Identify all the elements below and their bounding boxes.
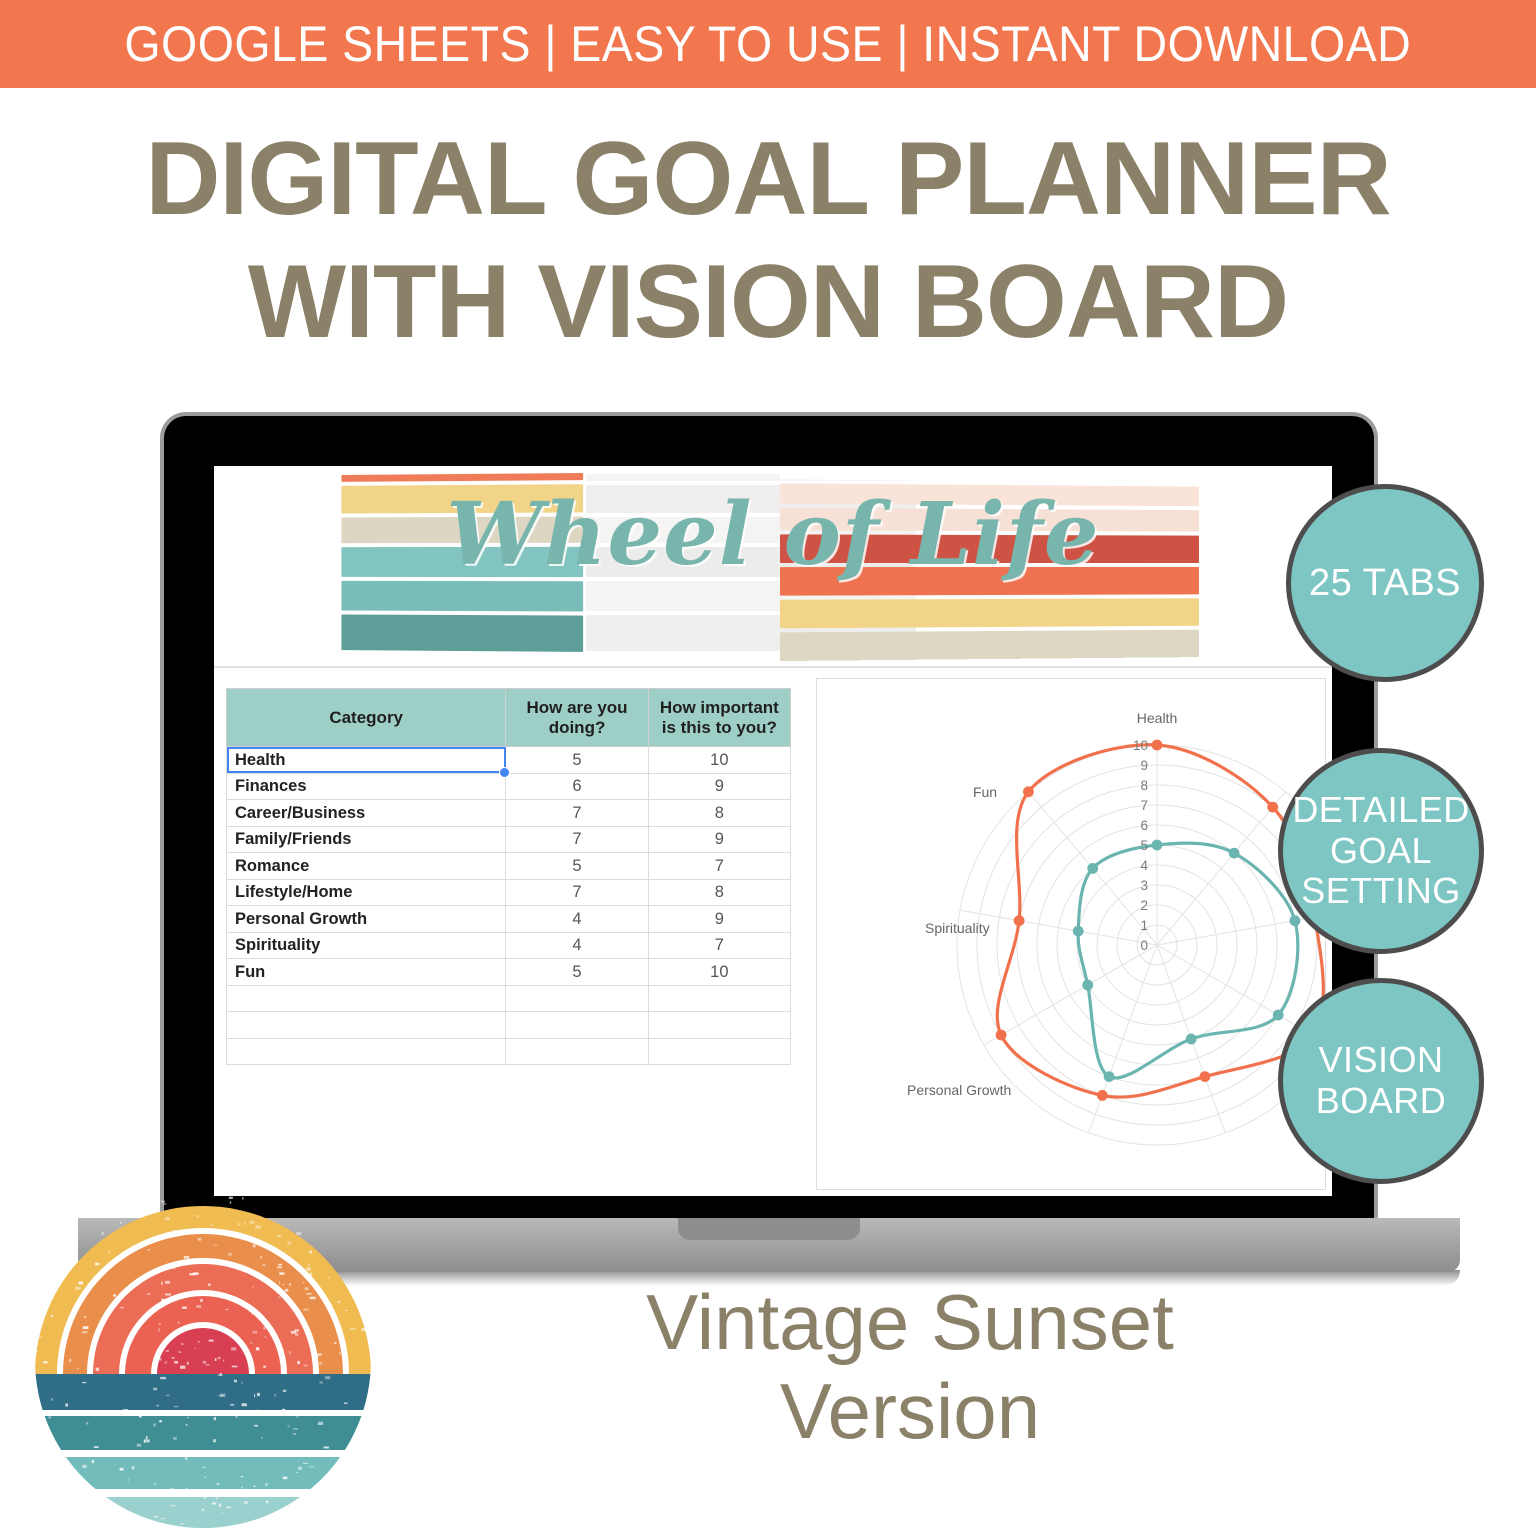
- sunset-texture-fleck: [171, 1505, 175, 1506]
- sunset-texture-fleck: [43, 1361, 47, 1363]
- sunset-texture-fleck: [298, 1467, 302, 1470]
- sunset-texture-fleck: [226, 1309, 229, 1310]
- sunset-texture-fleck: [39, 1336, 41, 1337]
- radar-data-point: [1073, 926, 1084, 937]
- sunset-texture-fleck: [251, 1413, 256, 1416]
- sunset-texture-fleck: [318, 1422, 323, 1425]
- cell-important[interactable]: 8: [648, 879, 790, 906]
- sunset-texture-fleck: [313, 1354, 319, 1356]
- retro-stripe: [780, 472, 1199, 483]
- column-header-important[interactable]: How important is this to you?: [648, 689, 790, 747]
- radar-tick-label: 3: [1140, 878, 1148, 893]
- sunset-texture-fleck: [161, 1201, 165, 1203]
- sunset-texture-fleck: [120, 1222, 122, 1224]
- sunset-texture-fleck: [215, 1358, 217, 1361]
- radar-data-point: [1082, 980, 1093, 991]
- cell-category[interactable]: Romance: [227, 853, 506, 880]
- sunset-texture-fleck: [82, 1465, 87, 1468]
- cell-doing[interactable]: 4: [506, 932, 648, 959]
- sunset-texture-fleck: [279, 1272, 284, 1274]
- sunset-texture-fleck: [296, 1472, 299, 1473]
- badge-vision-board[interactable]: VISION BOARD: [1278, 978, 1484, 1184]
- sunset-texture-fleck: [289, 1283, 291, 1285]
- retro-stripe: [780, 598, 1199, 628]
- sunset-texture-fleck: [339, 1352, 341, 1355]
- sunset-texture-fleck: [217, 1231, 219, 1233]
- sunset-texture-fleck: [260, 1256, 262, 1259]
- sunset-texture-fleck: [219, 1504, 222, 1507]
- sunset-texture-fleck: [169, 1236, 170, 1238]
- sunset-texture-fleck: [305, 1287, 309, 1290]
- sunset-texture-fleck: [214, 1245, 218, 1246]
- sunset-texture-fleck: [238, 1223, 240, 1225]
- sunset-texture-fleck: [266, 1501, 269, 1504]
- radar-data-point: [1087, 863, 1098, 874]
- table-row[interactable]: Lifestyle/Home78: [227, 879, 791, 906]
- sunset-texture-fleck: [174, 1361, 178, 1364]
- sunset-texture-fleck: [184, 1256, 189, 1259]
- cell-important[interactable]: 7: [648, 932, 790, 959]
- table-row[interactable]: Personal Growth49: [227, 906, 791, 933]
- sunset-disc: [29, 1197, 377, 1536]
- sunset-texture-fleck: [232, 1366, 238, 1368]
- sunset-texture-fleck: [328, 1277, 329, 1279]
- wheel-of-life-table[interactable]: Category How are you doing? How importan…: [226, 688, 791, 1065]
- sunset-texture-fleck: [279, 1281, 280, 1284]
- radar-tick-label: 6: [1140, 818, 1148, 833]
- cell-doing[interactable]: 7: [506, 800, 648, 827]
- sunset-texture-fleck: [209, 1340, 214, 1342]
- radar-data-point: [1267, 802, 1278, 813]
- sunset-texture-fleck: [84, 1316, 86, 1318]
- table-row[interactable]: Romance57: [227, 853, 791, 880]
- radar-data-point: [1229, 848, 1240, 859]
- sunset-texture-fleck: [172, 1357, 175, 1358]
- sunset-texture-fleck: [155, 1483, 156, 1486]
- sunset-texture-fleck: [204, 1495, 206, 1498]
- cell-doing[interactable]: 5: [506, 853, 648, 880]
- cell-important[interactable]: 9: [648, 773, 790, 800]
- column-header-category[interactable]: Category: [227, 689, 506, 747]
- cell-doing[interactable]: [506, 985, 648, 1012]
- sunset-texture-fleck: [309, 1466, 315, 1468]
- cell-category[interactable]: [227, 985, 506, 1012]
- sunset-texture-fleck: [253, 1331, 258, 1334]
- table-row[interactable]: Fun510: [227, 959, 791, 986]
- sunset-texture-fleck: [206, 1364, 210, 1365]
- sunset-texture-fleck: [253, 1486, 255, 1487]
- sunset-texture-fleck: [212, 1503, 216, 1505]
- sunset-texture-fleck: [166, 1350, 169, 1351]
- sunset-texture-fleck: [272, 1453, 276, 1455]
- sunset-texture-fleck: [310, 1297, 316, 1300]
- sunset-texture-fleck: [345, 1310, 348, 1311]
- sunset-texture-fleck: [241, 1476, 244, 1477]
- sunset-texture-fleck: [203, 1361, 206, 1364]
- promo-banner-text: GOOGLE SHEETS | EASY TO USE | INSTANT DO…: [125, 15, 1412, 73]
- page-title-line-2: WITH VISION BOARD: [0, 241, 1536, 364]
- sunset-texture-fleck: [166, 1395, 170, 1397]
- sunset-water-band: [29, 1416, 377, 1450]
- sunset-texture-fleck: [219, 1395, 224, 1396]
- radar-data-point: [1097, 1090, 1108, 1101]
- sunset-texture-fleck: [337, 1301, 340, 1303]
- sunset-texture-fleck: [203, 1467, 207, 1469]
- sunset-texture-fleck: [95, 1263, 99, 1265]
- sunset-texture-fleck: [263, 1327, 265, 1329]
- sunset-texture-fleck: [189, 1273, 195, 1275]
- sunset-texture-fleck: [253, 1286, 254, 1288]
- sunset-water-band: [29, 1457, 377, 1489]
- radar-data-point: [1200, 1071, 1211, 1082]
- wheel-of-life-radar-chart[interactable]: 012345678910HealthFunSpiritualityPersona…: [816, 678, 1326, 1190]
- cell-category[interactable]: [227, 1012, 506, 1039]
- cell-important[interactable]: 9: [648, 906, 790, 933]
- sunset-texture-fleck: [86, 1289, 90, 1290]
- sunset-texture-fleck: [218, 1357, 221, 1359]
- sunset-texture-fleck: [263, 1264, 266, 1266]
- sunset-texture-fleck: [165, 1281, 170, 1284]
- sunset-water-band: [29, 1497, 377, 1536]
- sunset-texture-fleck: [173, 1437, 177, 1439]
- sunset-texture-fleck: [65, 1403, 68, 1406]
- sunset-texture-fleck: [263, 1366, 266, 1368]
- sunset-texture-fleck: [137, 1444, 141, 1447]
- sunset-texture-fleck: [208, 1283, 211, 1286]
- cell-important[interactable]: 7: [648, 853, 790, 880]
- sunset-texture-fleck: [205, 1477, 206, 1478]
- sunset-texture-fleck: [86, 1422, 88, 1424]
- sunset-texture-fleck: [195, 1348, 196, 1349]
- table-row[interactable]: Spirituality47: [227, 932, 791, 959]
- sunset-texture-fleck: [159, 1328, 160, 1331]
- sunset-texture-fleck: [198, 1238, 202, 1241]
- sunset-texture-fleck: [244, 1222, 245, 1225]
- cell-doing[interactable]: 6: [506, 773, 648, 800]
- sunset-texture-fleck: [214, 1417, 216, 1420]
- sunset-texture-fleck: [153, 1388, 157, 1391]
- sunset-texture-fleck: [36, 1350, 37, 1352]
- sunset-texture-fleck: [159, 1323, 161, 1325]
- banner-divider: [214, 666, 1332, 668]
- sunset-texture-fleck: [230, 1201, 231, 1204]
- sunset-texture-fleck: [185, 1457, 187, 1460]
- retro-stripe: [341, 581, 583, 612]
- radar-axis-label: Spirituality: [925, 920, 990, 936]
- cell-important[interactable]: 8: [648, 800, 790, 827]
- sunset-texture-fleck: [220, 1373, 222, 1376]
- sunset-texture-fleck: [254, 1425, 258, 1427]
- retro-stripe: [341, 614, 583, 651]
- sunset-texture-fleck: [337, 1414, 340, 1416]
- sunset-texture-fleck: [102, 1232, 103, 1235]
- sunset-texture-fleck: [90, 1369, 91, 1372]
- sunset-texture-fleck: [230, 1404, 234, 1406]
- sunset-texture-fleck: [217, 1484, 220, 1485]
- cell-important[interactable]: 9: [648, 826, 790, 853]
- cell-important[interactable]: [648, 985, 790, 1012]
- sunset-water-band: [29, 1491, 377, 1497]
- sunset-texture-fleck: [92, 1460, 94, 1463]
- radar-grid-ring: [977, 765, 1326, 1125]
- sunset-texture-fleck: [265, 1483, 268, 1486]
- sunset-texture-fleck: [196, 1215, 198, 1216]
- sunset-texture-fleck: [255, 1225, 261, 1228]
- table-row[interactable]: Career/Business78: [227, 800, 791, 827]
- sunset-texture-fleck: [82, 1331, 87, 1333]
- sunset-texture-fleck: [295, 1333, 298, 1335]
- radar-data-point: [996, 1030, 1007, 1041]
- sunset-texture-fleck: [350, 1328, 356, 1330]
- sunset-texture-fleck: [79, 1282, 84, 1285]
- sunset-texture-fleck: [156, 1405, 159, 1407]
- sunset-texture-fleck: [253, 1244, 256, 1247]
- sunset-texture-fleck: [278, 1296, 280, 1298]
- sunset-texture-fleck: [223, 1360, 224, 1362]
- cell-category[interactable]: Spirituality: [227, 932, 506, 959]
- retro-stripe: [780, 630, 1199, 661]
- sunset-texture-fleck: [94, 1446, 99, 1448]
- sunset-texture-fleck: [178, 1322, 179, 1324]
- sunset-texture-fleck: [186, 1424, 188, 1426]
- sunset-texture-fleck: [148, 1249, 150, 1251]
- sunset-texture-fleck: [165, 1217, 170, 1220]
- sunset-texture-fleck: [120, 1307, 124, 1308]
- sunset-texture-fleck: [155, 1305, 161, 1307]
- sunset-texture-fleck: [306, 1268, 311, 1271]
- sunset-texture-fleck: [324, 1447, 330, 1449]
- cell-category[interactable]: Finances: [227, 773, 506, 800]
- sunset-texture-fleck: [82, 1454, 84, 1456]
- sunset-texture-fleck: [163, 1203, 166, 1204]
- radar-data-point: [1152, 740, 1163, 751]
- cell-doing[interactable]: 7: [506, 826, 648, 853]
- sunset-texture-fleck: [226, 1507, 231, 1509]
- sunset-texture-fleck: [69, 1359, 71, 1362]
- sunset-texture-fleck: [178, 1351, 181, 1353]
- sunset-texture-fleck: [82, 1382, 86, 1383]
- sunset-texture-fleck: [250, 1221, 255, 1224]
- sunset-texture-fleck: [77, 1368, 79, 1370]
- sunset-texture-fleck: [160, 1377, 166, 1379]
- badge-detailed-goal-setting[interactable]: DETAILED GOAL SETTING: [1278, 748, 1484, 954]
- sunset-texture-fleck: [293, 1434, 296, 1435]
- sunset-texture-fleck: [161, 1282, 163, 1285]
- radar-spoke: [1157, 792, 1286, 945]
- cell-category[interactable]: Lifestyle/Home: [227, 879, 506, 906]
- badge-vision-board-label: VISION BOARD: [1291, 1040, 1471, 1121]
- sunset-texture-fleck: [274, 1394, 276, 1396]
- sunset-texture-fleck: [297, 1415, 298, 1417]
- sunset-texture-fleck: [165, 1294, 171, 1296]
- radar-tick-label: 1: [1140, 918, 1148, 933]
- sunset-texture-fleck: [278, 1264, 282, 1266]
- cell-important[interactable]: [648, 1038, 790, 1065]
- cell-category[interactable]: Family/Friends: [227, 826, 506, 853]
- sunset-texture-fleck: [309, 1264, 310, 1266]
- sunset-texture-fleck: [128, 1478, 129, 1481]
- retro-stripe: [341, 473, 583, 482]
- cell-important[interactable]: [648, 1012, 790, 1039]
- sunset-texture-fleck: [310, 1273, 313, 1276]
- sunset-texture-fleck: [261, 1437, 263, 1439]
- sunset-texture-fleck: [124, 1349, 126, 1352]
- sunset-texture-fleck: [283, 1390, 287, 1392]
- sunset-texture-fleck: [303, 1309, 308, 1311]
- cell-doing[interactable]: 7: [506, 879, 648, 906]
- radar-chart-svg: 012345678910HealthFunSpiritualityPersona…: [817, 679, 1326, 1190]
- sunset-texture-fleck: [174, 1406, 178, 1407]
- sunset-texture-fleck: [216, 1497, 218, 1499]
- sunset-texture-fleck: [200, 1299, 202, 1302]
- table-row[interactable]: Finances69: [227, 773, 791, 800]
- sunset-texture-fleck: [75, 1287, 81, 1290]
- radar-tick-label: 7: [1140, 798, 1148, 813]
- radar-data-point: [1290, 915, 1301, 926]
- radar-tick-label: 9: [1140, 758, 1148, 773]
- sunset-texture-fleck: [250, 1342, 253, 1343]
- radar-data-point: [1023, 786, 1034, 797]
- sunset-texture-fleck: [254, 1394, 255, 1397]
- cell-category[interactable]: Career/Business: [227, 800, 506, 827]
- sunset-texture-fleck: [131, 1215, 133, 1218]
- radar-axis-label: Personal Growth: [907, 1082, 1011, 1098]
- cell-category[interactable]: [227, 1038, 506, 1065]
- radar-data-point: [1186, 1034, 1197, 1045]
- sunset-texture-fleck: [108, 1250, 110, 1253]
- cell-important[interactable]: 10: [648, 959, 790, 986]
- laptop-lid: Wheel of Life Category How are you doing…: [160, 412, 1378, 1220]
- sunset-texture-fleck: [96, 1368, 99, 1371]
- sunset-texture-fleck: [132, 1466, 135, 1469]
- retro-sunset-logo: [18, 1174, 388, 1536]
- sunset-water-band: [29, 1374, 377, 1410]
- table-row[interactable]: [227, 985, 791, 1012]
- wheel-of-life-banner: Wheel of Life: [214, 466, 1332, 666]
- laptop-base-notch: [678, 1218, 860, 1240]
- sunset-texture-fleck: [287, 1241, 291, 1244]
- table-row[interactable]: Health510: [227, 747, 791, 774]
- sunset-texture-fleck: [154, 1516, 158, 1517]
- sunset-texture-fleck: [257, 1410, 260, 1411]
- sunset-texture-fleck: [147, 1293, 150, 1294]
- sunset-texture-fleck: [257, 1393, 260, 1396]
- sunset-texture-fleck: [161, 1299, 166, 1302]
- sunset-texture-fleck: [320, 1381, 323, 1383]
- sunset-texture-fleck: [202, 1509, 204, 1512]
- sunset-texture-fleck: [90, 1452, 95, 1454]
- badge-25-tabs-label: 25 TABS: [1309, 562, 1461, 605]
- promo-banner: GOOGLE SHEETS | EASY TO USE | INSTANT DO…: [0, 0, 1536, 88]
- table-header-row: Category How are you doing? How importan…: [227, 689, 791, 747]
- sunset-texture-fleck: [146, 1436, 148, 1439]
- cell-doing[interactable]: 5: [506, 747, 648, 774]
- sunset-texture-fleck: [197, 1492, 199, 1493]
- badge-detailed-goal-setting-label: DETAILED GOAL SETTING: [1291, 790, 1471, 912]
- sunset-texture-fleck: [294, 1329, 299, 1331]
- wheel-of-life-title: Wheel of Life: [214, 484, 1332, 585]
- sunset-texture-fleck: [283, 1284, 284, 1285]
- sunset-texture-fleck: [220, 1492, 225, 1495]
- sunset-texture-fleck: [242, 1197, 244, 1199]
- cell-important[interactable]: 10: [648, 747, 790, 774]
- version-caption-line-2: Version: [400, 1367, 1420, 1456]
- radar-data-point: [1152, 840, 1163, 851]
- sunset-texture-fleck: [187, 1417, 189, 1418]
- cell-doing[interactable]: 4: [506, 906, 648, 933]
- radar-axis-label: Health: [1137, 710, 1177, 726]
- sunset-texture-fleck: [256, 1347, 259, 1350]
- sunset-texture-fleck: [180, 1343, 184, 1344]
- radar-tick-label: 2: [1140, 898, 1148, 913]
- sunset-texture-fleck: [304, 1364, 308, 1366]
- page-title: DIGITAL GOAL PLANNER WITH VISION BOARD: [0, 118, 1536, 363]
- cell-category[interactable]: Health: [227, 747, 506, 774]
- sunset-texture-fleck: [277, 1266, 282, 1268]
- table-row[interactable]: Family/Friends79: [227, 826, 791, 853]
- sunset-texture-fleck: [303, 1282, 304, 1283]
- sunset-texture-fleck: [83, 1326, 89, 1329]
- sunset-texture-fleck: [173, 1230, 175, 1233]
- sunset-texture-fleck: [283, 1477, 288, 1480]
- sunset-texture-fleck: [241, 1487, 243, 1489]
- sunset-texture-fleck: [228, 1253, 233, 1256]
- sunset-texture-fleck: [285, 1289, 289, 1292]
- radar-tick-label: 5: [1140, 838, 1148, 853]
- cell-category[interactable]: Fun: [227, 959, 506, 986]
- column-header-doing[interactable]: How are you doing?: [506, 689, 648, 747]
- radar-tick-label: 8: [1140, 778, 1148, 793]
- version-caption: Vintage Sunset Version: [400, 1278, 1420, 1456]
- cell-doing[interactable]: [506, 1012, 648, 1039]
- sunset-texture-fleck: [159, 1420, 162, 1422]
- sunset-texture-fleck: [170, 1488, 174, 1490]
- radar-tick-label: 4: [1140, 858, 1148, 873]
- radar-data-point: [1014, 915, 1025, 926]
- radar-tick-label: 0: [1140, 938, 1148, 953]
- sunset-texture-fleck: [211, 1225, 213, 1227]
- sunset-texture-fleck: [236, 1412, 241, 1415]
- sunset-texture-fleck: [52, 1398, 54, 1400]
- sunset-texture-fleck: [182, 1307, 187, 1309]
- sunset-texture-fleck: [288, 1425, 290, 1427]
- sunset-texture-fleck: [344, 1402, 348, 1404]
- table-row[interactable]: [227, 1038, 791, 1065]
- sunset-texture-fleck: [325, 1376, 330, 1379]
- sunset-texture-fleck: [229, 1197, 233, 1199]
- cell-doing[interactable]: [506, 1038, 648, 1065]
- sunset-texture-fleck: [334, 1342, 336, 1344]
- sunset-texture-fleck: [289, 1351, 290, 1354]
- sunset-texture-fleck: [180, 1523, 183, 1524]
- sunset-texture-fleck: [297, 1361, 300, 1364]
- sunset-texture-fleck: [156, 1358, 161, 1360]
- radar-data-point: [1273, 1010, 1284, 1021]
- badge-25-tabs[interactable]: 25 TABS: [1286, 484, 1484, 682]
- cell-doing[interactable]: 5: [506, 959, 648, 986]
- table-row[interactable]: [227, 1012, 791, 1039]
- sunset-texture-fleck: [241, 1382, 243, 1384]
- sunset-texture-fleck: [234, 1380, 237, 1383]
- cell-category[interactable]: Personal Growth: [227, 906, 506, 933]
- sunset-texture-fleck: [319, 1362, 322, 1364]
- sunset-texture-fleck: [180, 1366, 185, 1369]
- sunset-texture-fleck: [251, 1311, 252, 1314]
- sunset-texture-fleck: [231, 1347, 236, 1350]
- sunset-texture-fleck: [244, 1502, 248, 1504]
- laptop-mockup: Wheel of Life Category How are you doing…: [160, 412, 1378, 1222]
- radar-axis-label: Fun: [973, 784, 997, 800]
